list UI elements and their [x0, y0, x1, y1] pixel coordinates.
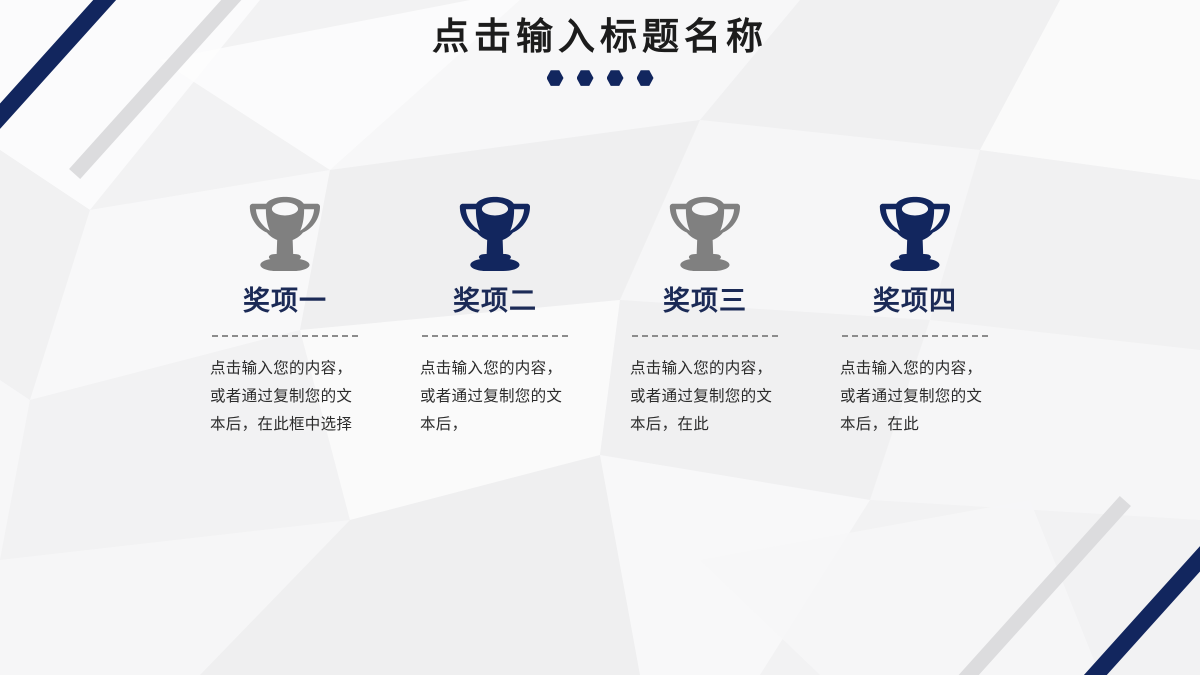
dashed-divider — [842, 335, 988, 337]
hexagon-dot-icon — [547, 70, 564, 87]
trophy-icon — [452, 190, 538, 276]
award-title: 奖项一 — [243, 286, 327, 318]
award-title: 奖项三 — [663, 286, 747, 318]
slide-header: 点击输入标题名称 — [0, 16, 1200, 87]
award-description: 点击输入您的内容，或者通过复制您的文本后，在此框中选择 — [210, 354, 360, 438]
title-decoration-dots — [0, 70, 1200, 87]
dashed-divider — [632, 335, 778, 337]
trophy-icon — [872, 190, 958, 276]
award-column: 奖项三 点击输入您的内容，或者通过复制您的文本后，在此 — [600, 190, 810, 438]
trophy-shape — [460, 197, 530, 271]
slide-canvas: 点击输入标题名称 奖项一 点击输入您的内容，或者通过复制您的文本后，在此框中选择… — [0, 0, 1200, 675]
hexagon-dot-icon — [637, 70, 654, 87]
trophy-shape — [880, 197, 950, 271]
hexagon-dot-icon — [607, 70, 624, 87]
award-title: 奖项四 — [873, 286, 957, 318]
award-column: 奖项一 点击输入您的内容，或者通过复制您的文本后，在此框中选择 — [180, 190, 390, 438]
award-description: 点击输入您的内容，或者通过复制您的文本后，在此 — [840, 354, 990, 438]
hexagon-dot-icon — [577, 70, 594, 87]
trophy-icon — [662, 190, 748, 276]
award-columns: 奖项一 点击输入您的内容，或者通过复制您的文本后，在此框中选择 奖项二 点击输入… — [180, 190, 1020, 438]
trophy-shape — [250, 197, 320, 271]
trophy-icon — [242, 190, 328, 276]
dashed-divider — [422, 335, 568, 337]
award-description: 点击输入您的内容，或者通过复制您的文本后，在此 — [630, 354, 780, 438]
award-column: 奖项四 点击输入您的内容，或者通过复制您的文本后，在此 — [810, 190, 1020, 438]
dashed-divider — [212, 335, 358, 337]
page-title: 点击输入标题名称 — [0, 16, 1200, 59]
award-title: 奖项二 — [453, 286, 537, 318]
award-description: 点击输入您的内容，或者通过复制您的文本后， — [420, 354, 570, 438]
award-column: 奖项二 点击输入您的内容，或者通过复制您的文本后， — [390, 190, 600, 438]
trophy-shape — [670, 197, 740, 271]
